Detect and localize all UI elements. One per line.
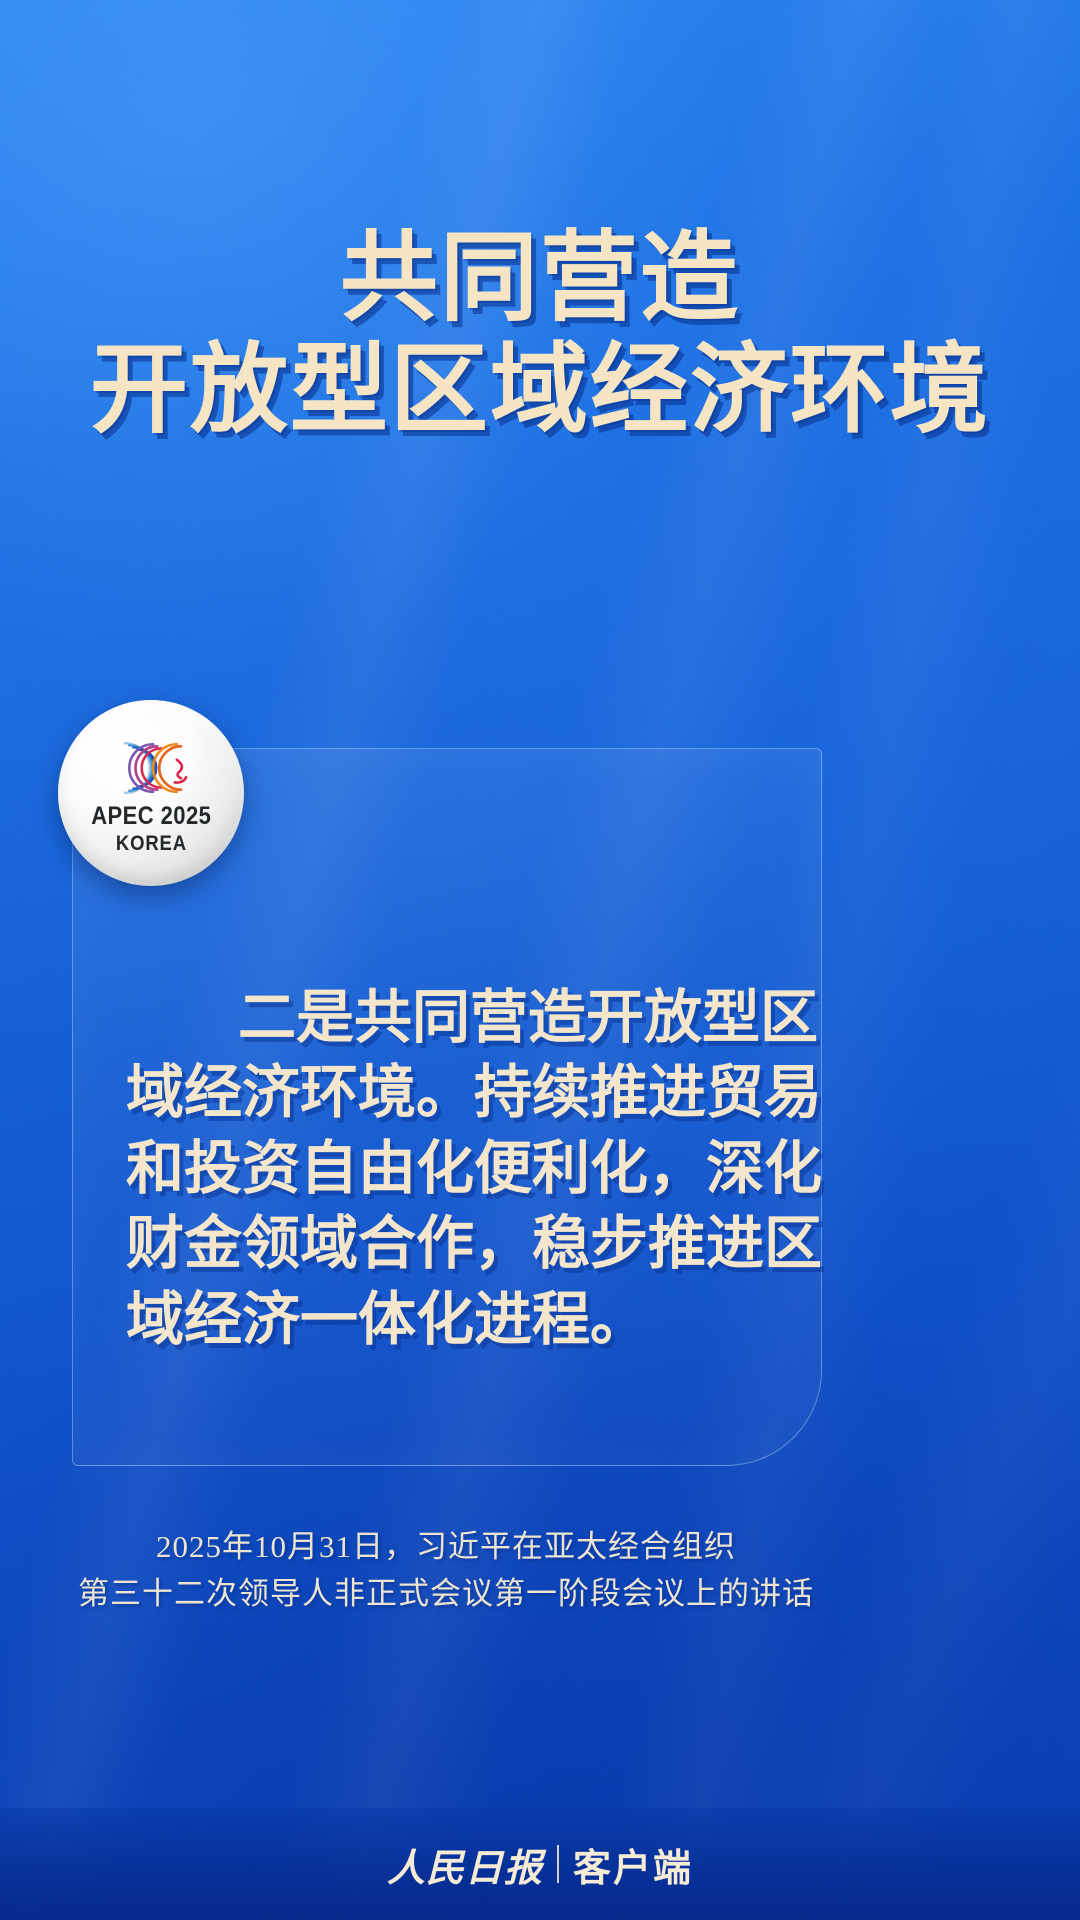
footer-bar: 人民日报 客户端 xyxy=(0,1808,1080,1920)
footer-divider xyxy=(557,1845,559,1883)
poster-canvas: 共同营造 开放型区域经济环境 A xyxy=(0,0,1080,1920)
publisher-logo: 人民日报 xyxy=(387,1837,543,1892)
badge-subtitle: KOREA xyxy=(115,833,186,854)
title-line-2: 开放型区域经济环境 xyxy=(0,340,1080,444)
title-line-1: 共同营造 xyxy=(0,228,1080,332)
apec-2025-korea-badge: APEC 2025 KOREA xyxy=(58,700,244,886)
attribution-line-1: 2025年10月31日，习近平在亚太经合组织 xyxy=(72,1524,820,1571)
page-title: 共同营造 开放型区域经济环境 xyxy=(0,228,1080,444)
apec-face-arcs-icon xyxy=(99,737,203,799)
badge-title: APEC 2025 xyxy=(91,804,211,829)
quote-body: 二是共同营造开放型区域经济环境。持续推进贸易和投资自由化便利化，深化财金领域合作… xyxy=(126,980,848,1357)
product-name: 客户端 xyxy=(573,1837,693,1892)
attribution-line-2: 第三十二次领导人非正式会议第一阶段会议上的讲话 xyxy=(72,1571,820,1618)
quote-attribution: 2025年10月31日，习近平在亚太经合组织 第三十二次领导人非正式会议第一阶段… xyxy=(72,1524,820,1617)
